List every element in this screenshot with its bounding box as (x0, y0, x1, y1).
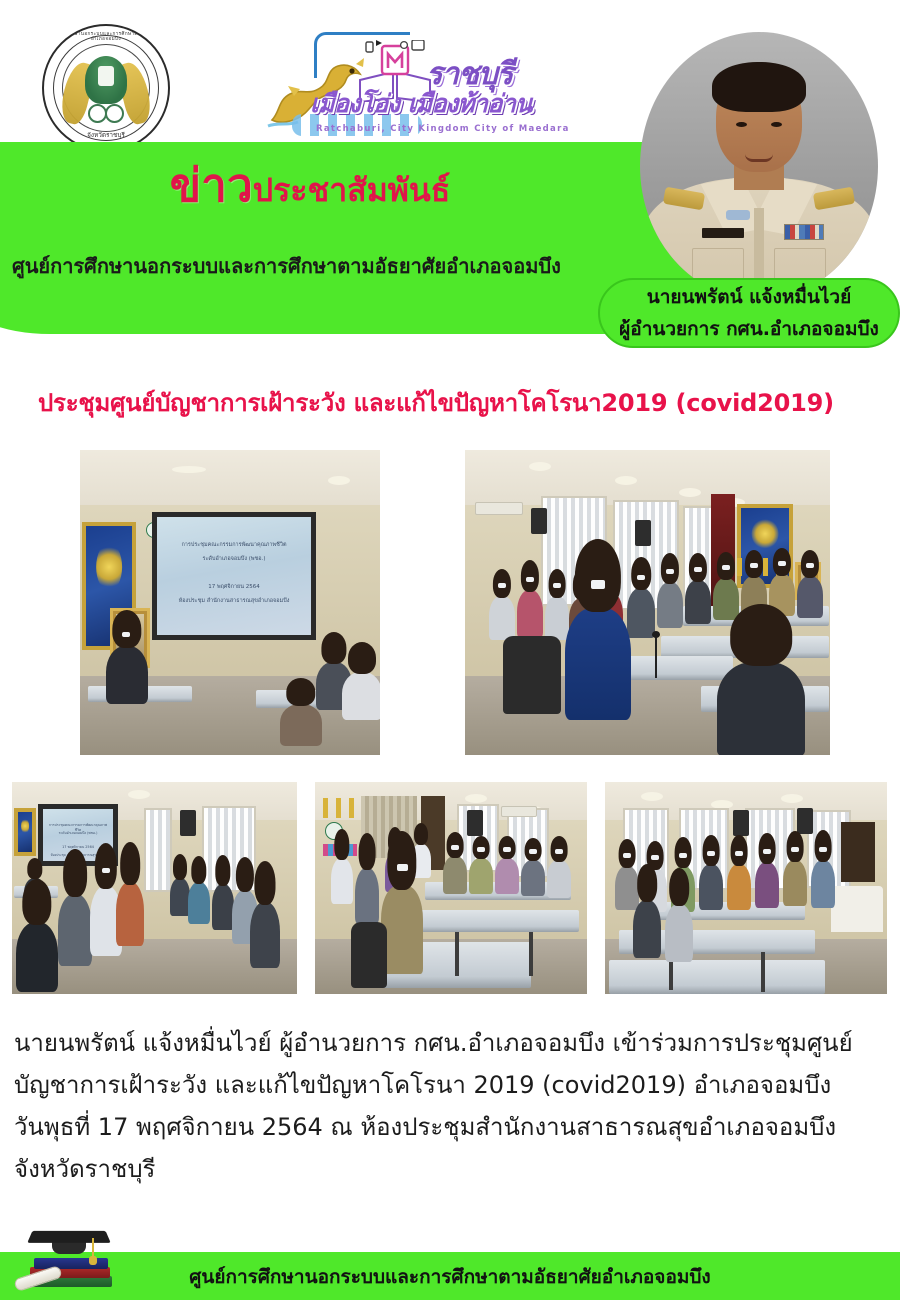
meeting-attendee (188, 882, 210, 924)
meeting-attendee (250, 902, 280, 968)
ceiling-light-icon (529, 462, 551, 471)
face-mask-icon (791, 847, 799, 852)
portrait-eye-right (771, 122, 782, 127)
uniform-ribbon-bar-icon (784, 224, 824, 240)
slide-line-3: 17 พฤศจิกายน 2564 (169, 583, 298, 591)
director-position: ผู้อำนวยการ กศน.อำเภอจอมบึง (619, 314, 879, 344)
uniform-badge-icon (726, 210, 750, 220)
face-mask-icon (666, 569, 674, 574)
slide-line-2: ระดับอำเภอจอมบึง (พชอ.) (169, 555, 298, 563)
page-title: ข่าวประชาสัมพันธ์ (0, 162, 620, 216)
wall-speaker-icon (797, 808, 813, 834)
face-mask-icon (397, 864, 408, 871)
wall-speaker-icon (467, 810, 483, 836)
table-leg (529, 932, 533, 976)
meeting-attendee (797, 576, 823, 618)
page-title-big: ข่าว (170, 158, 253, 212)
meeting-attendee (212, 884, 234, 930)
face-mask-icon (526, 577, 534, 582)
ceiling-light-icon (465, 794, 487, 803)
face-mask-icon (806, 563, 814, 568)
portrait-hair (712, 62, 806, 112)
meeting-attendee (342, 672, 380, 720)
page-title-small: ประชาสัมพันธ์ (253, 171, 451, 209)
face-mask-icon (477, 847, 485, 852)
meeting-attendee (106, 646, 148, 704)
slide-line-1: การประชุมคณะกรรมการพัฒนาคุณภาพชีวิต (169, 541, 298, 549)
body-line: วันพุธที่ 17 พฤศจิกายน 2564 ณ ห้องประชุม… (14, 1106, 894, 1148)
face-mask-icon (750, 563, 758, 568)
news-body: นายนพรัตน์ แจ้งหมื่นไวย์ ผู้อำนวยการ กศน… (14, 1022, 894, 1190)
wall-speaker-icon (635, 520, 651, 546)
director-name-badge: นายนพรัตน์ แจ้งหมื่นไวย์ ผู้อำนวยการ กศน… (598, 278, 900, 348)
air-conditioner-icon (475, 502, 523, 515)
face-mask-icon (623, 853, 631, 858)
meeting-attendee (633, 900, 661, 958)
face-mask-icon (529, 849, 537, 854)
table-leg (761, 952, 765, 992)
face-mask-icon (735, 851, 743, 856)
ratchaburi-province-logo: ราชบุรี เมืองโอ่ง เมืองท้าอ่าน Ratchabur… (258, 28, 558, 150)
photo-meeting-projector-screen: การประชุมคณะกรรมการพัฒนาคุณภาพชีวิต ระดั… (80, 450, 380, 755)
meeting-table (403, 910, 579, 932)
meeting-attendee (469, 858, 493, 894)
face-mask-icon (553, 583, 561, 588)
meeting-attendee (713, 578, 739, 620)
slide-line-2: ระดับอำเภอจอมบึง (พชอ.) (49, 831, 108, 836)
office-chair (503, 636, 561, 714)
ceiling-light-icon (679, 488, 701, 497)
province-education-seal-icon: ศูนย์การศึกษานอกระบบและการศึกษาตามอัธยาศ… (42, 24, 170, 152)
face-mask-icon (451, 845, 459, 850)
meeting-attendee (116, 882, 144, 946)
face-mask-icon (498, 583, 506, 588)
face-mask-icon (637, 575, 645, 580)
meeting-attendee (727, 864, 751, 910)
cap-mortarboard (27, 1231, 111, 1243)
face-mask-icon (763, 849, 771, 854)
province-logo-english: Ratchaburi, City Kingdom City of Maedara (316, 124, 570, 134)
body-line: บัญชาการเฝ้าระวัง และแก้ไขปัญหาโคโรนา 20… (14, 1064, 894, 1106)
face-mask-icon (503, 847, 511, 852)
seal-emblem-icon (85, 56, 127, 104)
meeting-attendee (547, 860, 571, 898)
seal-infinity-icon (88, 104, 124, 119)
meeting-attendee (331, 858, 353, 904)
meeting-attendee (783, 860, 807, 906)
seal-ring-text-top: ศูนย์การศึกษานอกระบบและการศึกษาตามอัธยาศ… (44, 33, 168, 42)
meeting-attendee (627, 588, 655, 638)
side-table-cloth (831, 886, 883, 932)
face-mask-icon (651, 855, 659, 860)
table-microphone-icon (655, 636, 657, 678)
wall-speaker-icon (733, 810, 749, 836)
meeting-attendee (495, 858, 519, 894)
decor-stand (841, 822, 875, 882)
meeting-attendee (521, 860, 545, 896)
face-mask-icon (555, 849, 563, 854)
meeting-attendee (280, 704, 322, 746)
room-window (144, 808, 172, 892)
face-mask-icon (819, 847, 827, 852)
portrait-eye-left (736, 122, 747, 127)
projector-screen: การประชุมคณะกรรมการพัฒนาคุณภาพชีวิต ระดั… (152, 512, 316, 640)
meeting-attendee (615, 866, 639, 910)
face-mask-icon (722, 565, 730, 570)
face-mask-icon (694, 567, 702, 572)
ceiling-light-icon (641, 792, 663, 801)
speaker-presenter (565, 608, 631, 720)
news-poster: ศูนย์การศึกษานอกระบบและการศึกษาตามอัธยาศ… (0, 0, 900, 1300)
ceiling-light-icon (781, 794, 803, 803)
table-leg (455, 932, 459, 976)
province-logo-subtitle: เมืองโอ่ง เมืองท้าอ่าน (310, 84, 532, 124)
news-headline: ประชุมศูนย์บัญชาการเฝ้าระวัง และแก้ไขปัญ… (38, 383, 834, 422)
wall-speaker-icon (180, 810, 196, 836)
director-portrait (640, 32, 878, 300)
office-chair (351, 922, 387, 988)
meeting-attendee (685, 580, 711, 624)
photo-meeting-participants-right (605, 782, 887, 994)
meeting-attendee (545, 596, 569, 640)
ceiling-light-icon (615, 476, 637, 485)
meeting-attendee (489, 596, 515, 640)
thai-royal-banner (14, 808, 36, 856)
director-name: นายนพรัตน์ แจ้งหมื่นไวย์ (647, 282, 852, 312)
meeting-attendee (717, 662, 805, 755)
desk-flags-icon (323, 798, 357, 818)
meeting-attendee (170, 878, 190, 916)
face-mask-icon (102, 868, 110, 873)
meeting-table (609, 960, 825, 994)
face-mask-icon (679, 853, 687, 858)
uniform-nameplate (702, 228, 744, 238)
ceiling-light-icon (128, 790, 150, 799)
face-mask-icon (778, 561, 786, 566)
cap-tassel (92, 1238, 94, 1260)
footer-organization-name: ศูนย์การศึกษานอกระบบและการศึกษาตามอัธยาศ… (0, 1262, 900, 1292)
meeting-attendee (355, 868, 379, 924)
organization-name: ศูนย์การศึกษานอกระบบและการศึกษาตามอัธยาศ… (12, 250, 632, 282)
wall-speaker-icon (531, 508, 547, 534)
meeting-attendee (755, 862, 779, 908)
meeting-attendee (811, 860, 835, 908)
meeting-attendee (657, 582, 683, 628)
meeting-attendee (443, 856, 467, 894)
photo-meeting-audience-left: การประชุมคณะกรรมการพัฒนาคุณภาพชีวิต ระดั… (12, 782, 297, 994)
ceiling-light-icon (328, 476, 350, 485)
meeting-attendee (58, 894, 92, 966)
photo-meeting-officials-table (315, 782, 587, 994)
air-conditioner-icon (501, 806, 537, 817)
ceiling-light-icon (172, 466, 206, 473)
portrait-mouth (745, 154, 773, 162)
slide-line-4: ห้องประชุม สำนักงานสาธารณสุขอำเภอจอมบึง (169, 597, 298, 605)
meeting-attendee (517, 590, 543, 638)
body-line: นายนพรัตน์ แจ้งหมื่นไวย์ ผู้อำนวยการ กศน… (14, 1022, 894, 1064)
meeting-attendee (665, 904, 693, 962)
meeting-attendee (16, 922, 58, 992)
meeting-attendee (699, 864, 723, 910)
window-curtain (146, 810, 170, 890)
face-mask-icon (122, 632, 130, 637)
graduation-cap-icon (30, 1230, 108, 1248)
photo-meeting-wide-room (465, 450, 830, 755)
seal-ring-text-bottom: จังหวัดราชบุรี (44, 130, 168, 140)
body-line: จังหวัดราชบุรี (14, 1148, 894, 1190)
face-mask-icon (707, 851, 715, 856)
face-mask-icon (591, 580, 605, 589)
official-in-uniform (381, 886, 423, 974)
